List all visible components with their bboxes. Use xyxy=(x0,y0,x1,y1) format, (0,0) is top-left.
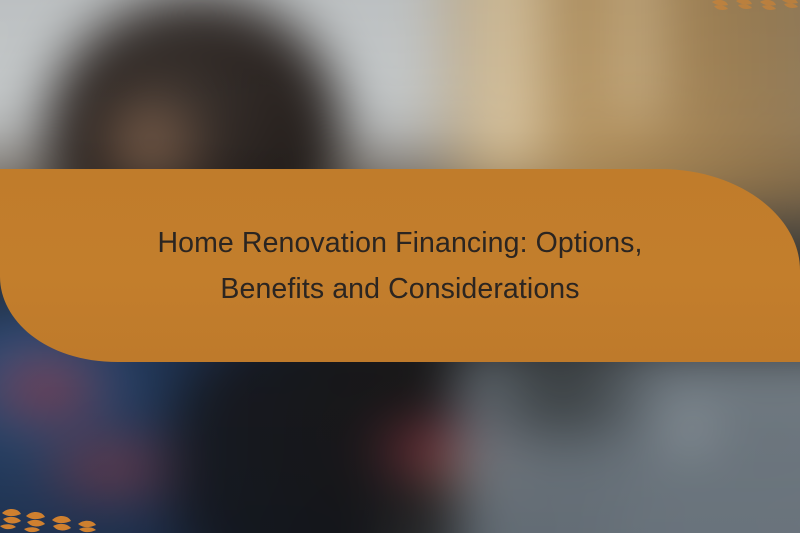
article-header-card: Home Renovation Financing: Options, Bene… xyxy=(0,0,800,533)
page-title-line-2: Benefits and Considerations xyxy=(72,266,728,312)
background-red-accent-2 xyxy=(35,433,189,502)
background-wood-highlight-2 xyxy=(602,0,669,121)
background-light-spot xyxy=(650,405,727,454)
page-title: Home Renovation Financing: Options, Bene… xyxy=(0,219,800,311)
title-banner: Home Renovation Financing: Options, Bene… xyxy=(0,169,800,362)
page-title-line-1: Home Renovation Financing: Options, xyxy=(72,219,728,265)
background-wood-highlight xyxy=(467,0,553,163)
